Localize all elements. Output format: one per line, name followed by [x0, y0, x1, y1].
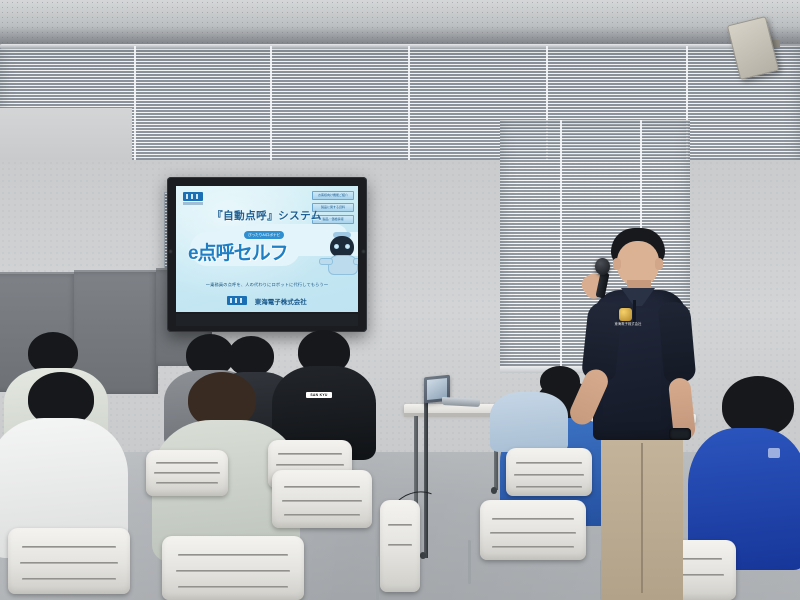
- chair[interactable]: [272, 470, 372, 528]
- display-indicator-icon: [168, 249, 173, 254]
- blind-mullion: [408, 46, 410, 166]
- slide-company-block: 東海電子株式会社 www.tokai-denshi.co.jp: [176, 292, 358, 312]
- shirt-logo-icon: [768, 448, 780, 458]
- display-indicator-icon: [361, 249, 366, 254]
- chair-slot: [276, 464, 344, 466]
- chair-frame-leg: [468, 540, 471, 584]
- chair-slot: [22, 546, 116, 548]
- presenter-shirt-emblem-icon: [619, 308, 632, 321]
- product-logo-text: e点呼セルフ: [188, 238, 316, 266]
- chair-slot: [176, 570, 290, 572]
- chair-slot: [388, 524, 412, 526]
- attendee-body: [490, 392, 568, 452]
- chair-slot: [156, 462, 218, 464]
- chair-slot: [178, 586, 288, 588]
- presentation-display[interactable]: お客様向け機能ご紹介 製品に関する資料 製品・価格情報 『自動点呼』システム ぴ…: [167, 177, 367, 332]
- presenter-ear: [613, 258, 621, 270]
- robot-eye-left: [334, 244, 339, 249]
- presenter-shirt-emblem-text: 東海電子株式会社: [613, 323, 643, 327]
- robot-arm-right: [353, 258, 358, 265]
- robot-mascot-icon: [325, 232, 358, 278]
- slide-canvas: お客様向け機能ご紹介 製品に関する資料 製品・価格情報 『自動点呼』システム ぴ…: [176, 186, 358, 312]
- chair-slot: [20, 562, 118, 564]
- chair-slot: [492, 518, 574, 520]
- slide-tagline: 〜乗務員の点呼を、人の代わりにロボットに代行してもらう〜: [176, 282, 358, 288]
- chair-slot: [514, 474, 584, 476]
- blind-head-rail: [0, 44, 740, 49]
- pole-base-caster: [420, 552, 426, 559]
- chair-slot: [388, 544, 412, 546]
- slide-brand-logo-icon: [183, 192, 203, 201]
- blind-mullion: [134, 46, 136, 166]
- chair-slot: [282, 500, 362, 502]
- chair-slot: [284, 486, 360, 488]
- attendee-head: [722, 376, 794, 436]
- presenter-ear: [655, 258, 663, 270]
- chair-frame-leg: [376, 556, 379, 600]
- chair[interactable]: [8, 528, 130, 594]
- chair-slot: [178, 554, 288, 556]
- chair-slot: [284, 514, 360, 516]
- display-bezel-bottom: [176, 314, 358, 326]
- robot-arm-left: [319, 258, 333, 265]
- chair-backrest: [272, 470, 372, 528]
- shirt-print-sankyu: SAN KYU: [306, 392, 332, 398]
- chair-slot: [490, 532, 576, 534]
- attendee-head: [540, 366, 580, 396]
- chair[interactable]: [480, 500, 586, 560]
- chair-slot: [22, 578, 116, 580]
- table-caster: [491, 487, 497, 494]
- chair-slot: [516, 486, 582, 488]
- chair[interactable]: [146, 450, 228, 496]
- slide-title: 『自動点呼』システム: [176, 208, 358, 223]
- blind-mullion: [270, 46, 272, 166]
- chair-slot: [278, 453, 342, 455]
- chair[interactable]: [162, 536, 304, 600]
- chair-slot: [492, 546, 574, 548]
- chair-backrest: [8, 528, 130, 594]
- slide-brand-logo-underline: [183, 202, 203, 205]
- chair[interactable]: [380, 500, 420, 592]
- presenter-wristwatch-icon: [669, 428, 691, 440]
- company-url: www.tokai-denshi.co.jp: [176, 311, 358, 312]
- robot-eye-right: [345, 244, 350, 249]
- presenter-sleeve-right: [658, 301, 697, 383]
- company-name: 東海電子株式会社: [255, 296, 307, 306]
- chair-slot: [516, 462, 582, 464]
- microphone-icon[interactable]: [595, 258, 610, 275]
- presenter: 東海電子株式会社: [575, 228, 705, 600]
- chair-backrest: [380, 500, 420, 592]
- chair-slot: [156, 482, 218, 484]
- chair-slot: [154, 472, 220, 474]
- chair-backrest: [162, 536, 304, 600]
- chair-backrest: [480, 500, 586, 560]
- slide-button-features[interactable]: お客様向け機能ご紹介: [312, 191, 354, 200]
- product-logo-group: ぴったりAIロボナビ e点呼セルフ: [184, 230, 350, 278]
- blind-mullion-right: [560, 120, 562, 370]
- attendee-head: [228, 336, 274, 376]
- robot-head: [330, 236, 354, 257]
- presenter-pants-seam: [641, 443, 643, 593]
- seminar-room-photo: お客様向け機能ご紹介 製品に関する資料 製品・価格情報 『自動点呼』システム ぴ…: [0, 0, 800, 600]
- company-logo-icon: [227, 296, 247, 305]
